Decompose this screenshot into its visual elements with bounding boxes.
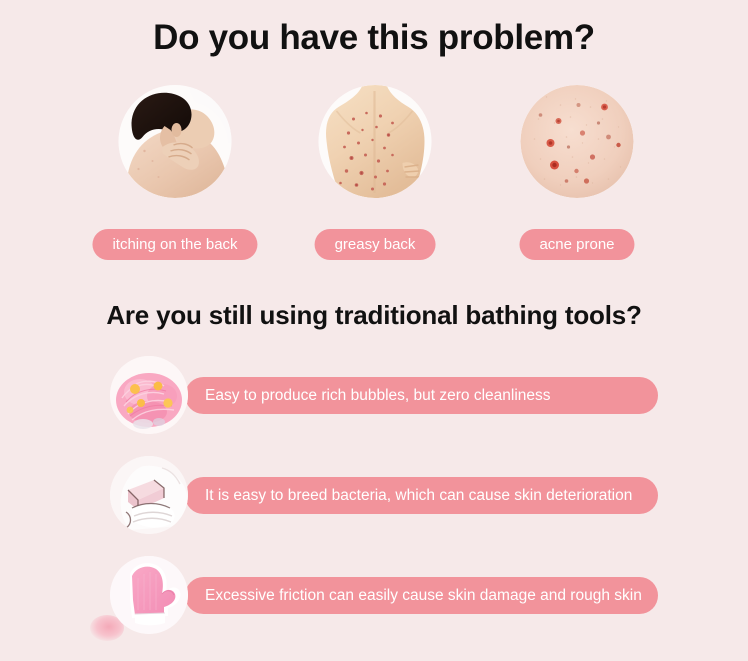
problem-card-itching: itching on the back: [75, 85, 275, 260]
woman-scratching-back-photo: [119, 85, 232, 198]
problem-pill-label: itching on the back: [92, 229, 257, 260]
problem-pill-label: greasy back: [315, 229, 436, 260]
tool-row-pouf: Easy to produce rich bubbles, but zero c…: [0, 355, 748, 455]
tool-bar-label: Easy to produce rich bubbles, but zero c…: [205, 377, 551, 414]
problem-card-row: itching on the back: [0, 85, 748, 260]
problem-card-acne: acne prone: [477, 85, 677, 260]
tool-bar: Excessive friction can easily cause skin…: [185, 577, 658, 614]
tool-bar-label: Excessive friction can easily cause skin…: [205, 577, 642, 614]
problem-pill-label: acne prone: [519, 229, 634, 260]
page-title-problems: Do you have this problem?: [0, 18, 748, 58]
tool-row-towel: It is easy to breed bacteria, which can …: [0, 455, 748, 555]
promo-page: Do you have this problem?: [0, 0, 748, 661]
pink-bath-mitt-photo: [110, 556, 188, 634]
acne-skin-closeup-photo: [521, 85, 634, 198]
tool-row-mitt: Excessive friction can easily cause skin…: [0, 555, 748, 655]
page-title-tools: Are you still using traditional bathing …: [0, 300, 748, 331]
tools-list: Easy to produce rich bubbles, but zero c…: [0, 355, 748, 655]
problem-card-greasy: greasy back: [275, 85, 475, 260]
pink-bath-pouf-photo: [110, 356, 188, 434]
tool-bar: Easy to produce rich bubbles, but zero c…: [185, 377, 658, 414]
back-with-acne-photo: [319, 85, 432, 198]
tool-bar: It is easy to breed bacteria, which can …: [185, 477, 658, 514]
tool-bar-label: It is easy to breed bacteria, which can …: [205, 477, 632, 514]
folded-bath-towels-photo: [110, 456, 188, 534]
